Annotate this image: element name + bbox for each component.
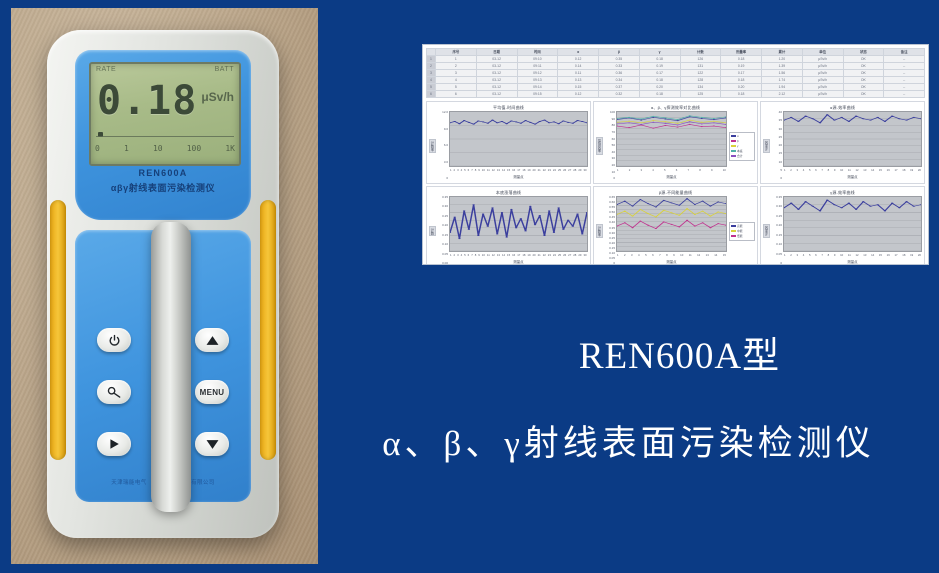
table-cell[interactable]: 2 (436, 63, 477, 70)
grip-right (260, 200, 276, 460)
chart-y-tick: 0.05 (442, 253, 448, 257)
chart-x-tick: 20 (533, 167, 536, 174)
data-table: 序号日期时间αβγ计数剂量率累计单位状态备注1103-1209:100.120.… (426, 48, 925, 98)
chart-y-tick: 0.10 (442, 243, 448, 247)
chart-y-tick: 0.25 (442, 215, 448, 219)
table-cell[interactable]: 125 (680, 91, 721, 98)
chart-x-tick: 7 (821, 167, 823, 174)
chart-x-tick: 11 (848, 167, 851, 174)
chart-x-tick: 16 (887, 167, 890, 174)
chart-x-axis-label: 测量点 (616, 174, 727, 181)
chart-legend-swatch (731, 145, 736, 147)
table-cell[interactable]: -- (884, 77, 925, 84)
chart-x-tick: 17 (894, 167, 897, 174)
chart-x-tick: 18 (902, 167, 905, 174)
scale-tick-1: 1 (124, 144, 129, 153)
chart-y-tick: 0.45 (609, 216, 615, 220)
table-cell[interactable]: 0.14 (558, 63, 599, 70)
chart-x-tick: 10 (482, 167, 485, 174)
table-cell[interactable]: 131 (680, 63, 721, 70)
table-cell[interactable]: 0.12 (558, 91, 599, 98)
chart-x-tick: 5 (664, 167, 666, 174)
chart-y-tick: 9.0 (444, 128, 448, 132)
chart-x-tick: 3 (796, 167, 798, 174)
table-row-index: 5 (427, 84, 436, 91)
chart-y-tick: 0.20 (776, 224, 782, 228)
play-icon (108, 438, 120, 450)
chart-x-tick: 5 (809, 167, 811, 174)
chart-y-tick: 0.35 (609, 227, 615, 231)
table-cell[interactable]: μSv/h (802, 77, 843, 84)
chart-x-tick: 8 (828, 167, 830, 174)
chart-legend-item: 合计 (731, 154, 753, 159)
chart-y-ticks: 12.09.06.03.00 (436, 111, 449, 181)
chart-x-tick: 7 (471, 252, 473, 259)
chart-panel[interactable]: γ源-效率曲线效率%0.350.300.250.200.150.100.0501… (760, 186, 925, 265)
table-cell[interactable]: 0.35 (599, 56, 640, 63)
power-icon (108, 334, 121, 347)
chart-legend-label: 低能 (737, 234, 743, 239)
table-cell[interactable]: 0.37 (599, 84, 640, 91)
chart-y-ticks: 4035302520151050 (770, 111, 783, 181)
chart-y-tick: 12.0 (442, 111, 448, 115)
chart-y-tick: 0.25 (776, 215, 782, 219)
chart-title: 平均值-时间曲线 (429, 104, 588, 111)
table-row[interactable]: 2203-1209:110.140.330.191310.191.39μSv/h… (427, 63, 925, 70)
table-cell[interactable]: -- (884, 91, 925, 98)
chart-legend-swatch (731, 140, 736, 142)
chart-x-tick: 6 (468, 167, 470, 174)
chart-x-axis-label: 测量点 (449, 174, 588, 181)
chart-x-tick: 8 (828, 252, 830, 259)
chart-body: 计数0.350.300.250.200.150.100.050.00123456… (429, 196, 588, 265)
chart-x-tick: 1 (617, 252, 619, 259)
table-cell[interactable]: 1.39 (762, 63, 803, 70)
table-cell[interactable]: 0.18 (639, 77, 680, 84)
chart-x-tick: 3 (631, 252, 633, 259)
chart-x-tick: 4 (461, 252, 463, 259)
chart-x-tick: 30 (583, 252, 586, 259)
chart-x-tick: 16 (512, 167, 515, 174)
table-cell[interactable]: 0.13 (558, 77, 599, 84)
chart-y-tick: 80 (612, 124, 615, 128)
table-cell[interactable]: 0.20 (639, 84, 680, 91)
table-cell[interactable]: 134 (680, 84, 721, 91)
product-photo: RATE BATT 0.18 μSv/h 0 1 10 100 1K R (11, 8, 318, 564)
chart-x-tick: 4 (803, 167, 805, 174)
chart-y-tick: 0.25 (609, 237, 615, 241)
chart-y-tick: 0.05 (609, 257, 615, 261)
chart-x-tick: 10 (680, 252, 683, 259)
chart-plot-area (783, 111, 922, 167)
chart-x-tick: 20 (918, 252, 921, 259)
chart-body: 计数率0.650.600.550.500.450.400.350.300.250… (596, 196, 755, 265)
chart-x-tick: 12 (855, 252, 858, 259)
chart-legend-swatch (731, 225, 736, 227)
chart-plot-wrapper: 1234567891011121314151617181920212223242… (449, 196, 588, 265)
chart-plot-area (616, 196, 727, 252)
table-cell[interactable]: 09:14 (517, 84, 558, 91)
chart-y-axis-label: 计数率 (596, 196, 603, 265)
table-cell[interactable]: 0.18 (639, 56, 680, 63)
chart-x-tick: 2 (790, 167, 792, 174)
chart-x-tick: 23 (548, 167, 551, 174)
chart-y-tick: 0.15 (776, 234, 782, 238)
chart-x-tick: 26 (563, 252, 566, 259)
table-cell[interactable]: 126 (680, 56, 721, 63)
table-cell[interactable]: 1.94 (762, 84, 803, 91)
table-cell[interactable]: -- (884, 56, 925, 63)
chart-x-tick: 21 (538, 167, 541, 174)
chart-plot-wrapper: 1234567891011121314151617181920测量点 (783, 196, 922, 265)
chart-x-tick: 4 (461, 167, 463, 174)
chart-x-tick: 28 (573, 252, 576, 259)
chart-x-tick: 13 (497, 167, 500, 174)
table-cell[interactable]: 03-12 (476, 77, 517, 84)
table-cell[interactable]: 09:11 (517, 63, 558, 70)
table-row-index: 4 (427, 77, 436, 84)
chart-y-axis-label: 效率% (763, 196, 770, 265)
scale-tick-4: 1K (225, 144, 235, 153)
chart-x-tick: 26 (563, 167, 566, 174)
table-cell[interactable]: 03-12 (476, 91, 517, 98)
chart-panel[interactable]: 平均值-时间曲线计数率12.09.06.03.00123456789101112… (426, 101, 591, 184)
table-cell[interactable]: 0.19 (639, 63, 680, 70)
table-cell[interactable]: 0.32 (599, 91, 640, 98)
table-cell[interactable]: μSv/h (802, 70, 843, 77)
table-cell[interactable]: -- (884, 84, 925, 91)
table-cell[interactable]: 2.12 (762, 91, 803, 98)
chart-y-tick: 40 (612, 151, 615, 155)
chart-x-tick: 19 (527, 252, 530, 259)
table-row-index: 6 (427, 91, 436, 98)
chart-y-tick: 0 (446, 177, 448, 181)
chart-y-axis-label: 计数率 (429, 111, 436, 181)
chart-x-axis-label: 测量点 (783, 259, 922, 265)
chart-x-axis-label: 测量点 (449, 259, 588, 265)
menu-button[interactable]: MENU (195, 380, 229, 404)
light-button[interactable] (97, 380, 131, 404)
chart-y-tick: 35 (779, 119, 782, 123)
table-cell[interactable]: 122 (680, 70, 721, 77)
chart-x-tick: 10 (482, 252, 485, 259)
chart-y-tick: 0.10 (776, 243, 782, 247)
chart-x-tick: 1 (450, 167, 452, 174)
table-cell[interactable]: 1 (436, 56, 477, 63)
chart-plot-wrapper: 1234567891011121314151617181920测量点 (783, 111, 922, 181)
radiation-detector-device: RATE BATT 0.18 μSv/h 0 1 10 100 1K R (47, 30, 279, 538)
lcd-status-right: BATT (215, 66, 234, 81)
chart-x-ticks: 1234567891011121314151617181920 (783, 252, 922, 259)
scale-tick-2: 10 (153, 144, 163, 153)
chart-panel[interactable]: 本底涨落曲线计数0.350.300.250.200.150.100.050.00… (426, 186, 591, 265)
chart-x-tick: 17 (517, 252, 520, 259)
chart-y-tick: 0.10 (609, 252, 615, 256)
chart-x-tick: 2 (454, 252, 456, 259)
table-cell[interactable]: 0.12 (558, 56, 599, 63)
table-cell[interactable]: OK (843, 84, 884, 91)
table-cell[interactable]: -- (884, 63, 925, 70)
chart-x-tick: 5 (645, 252, 647, 259)
table-column-header: 日期 (476, 49, 517, 56)
chart-y-tick: 0 (613, 262, 615, 265)
chart-x-tick: 8 (666, 252, 668, 259)
chart-legend-item: 低能 (731, 234, 753, 239)
chart-x-axis-label: 测量点 (616, 259, 727, 265)
table-cell[interactable]: OK (843, 77, 884, 84)
chart-y-tick: 70 (612, 131, 615, 135)
table-cell[interactable]: 4 (436, 77, 477, 84)
chart-y-ticks: 0.350.300.250.200.150.100.050 (770, 196, 783, 265)
chart-y-tick: 100 (610, 111, 615, 115)
chart-x-tick: 23 (548, 252, 551, 259)
table-cell[interactable]: 0.20 (721, 84, 762, 91)
chart-x-tick: 5 (809, 252, 811, 259)
chart-y-axis-label-text: 计数 (429, 226, 436, 237)
table-cell[interactable]: 09:10 (517, 56, 558, 63)
chart-y-tick: 25 (779, 136, 782, 140)
table-cell[interactable]: 3 (436, 70, 477, 77)
chart-x-tick: 18 (902, 252, 905, 259)
chart-y-axis-label-text: 探测效率 (596, 137, 603, 155)
table-column-header: 序号 (436, 49, 477, 56)
table-cell[interactable]: 0.11 (558, 70, 599, 77)
chart-x-tick: 6 (815, 167, 817, 174)
table-cell[interactable]: OK (843, 63, 884, 70)
table-cell[interactable]: 03-12 (476, 56, 517, 63)
table-cell[interactable]: 03-12 (476, 70, 517, 77)
lcd-display: RATE BATT 0.18 μSv/h 0 1 10 100 1K (89, 62, 241, 166)
chart-x-ticks: 1234567891011121314151617181920212223242… (449, 167, 588, 174)
chart-x-tick: 25 (558, 167, 561, 174)
table-cell[interactable]: 0.17 (639, 70, 680, 77)
chart-x-tick: 2 (624, 252, 626, 259)
chart-title: α、β、γ探测效率对比曲线 (596, 104, 755, 111)
magnifier-icon (107, 386, 122, 399)
table-row[interactable]: 1103-1209:100.120.350.181260.181.20μSv/h… (427, 56, 925, 63)
table-cell[interactable]: 0.36 (599, 70, 640, 77)
chart-y-tick: 0.40 (609, 221, 615, 225)
power-button[interactable] (97, 328, 131, 352)
table-cell[interactable]: 0.18 (721, 77, 762, 84)
table-column-header: 时间 (517, 49, 558, 56)
chart-x-tick: 30 (583, 167, 586, 174)
chart-y-tick: 0 (613, 177, 615, 181)
chart-plot-area (449, 196, 588, 252)
chart-y-tick: 0.60 (609, 201, 615, 205)
table-cell[interactable]: 1.74 (762, 77, 803, 84)
chart-x-tick: 16 (887, 252, 890, 259)
chart-y-tick: 40 (779, 111, 782, 115)
table-cell[interactable]: 09:15 (517, 91, 558, 98)
lcd-bargraph-axis (96, 136, 234, 137)
arrow-down-icon (206, 439, 219, 450)
chart-y-tick: 3.0 (444, 161, 448, 165)
lcd-reading-value: 0.18 (97, 81, 197, 121)
table-cell[interactable]: 0.17 (721, 70, 762, 77)
chart-y-tick: 0.05 (776, 253, 782, 257)
lcd-bargraph-scale: 0 1 10 100 1K (95, 144, 235, 153)
chart-y-tick: 0.55 (609, 206, 615, 210)
chart-legend: αβγ本底合计 (729, 132, 755, 161)
chart-x-tick: 9 (834, 252, 836, 259)
chart-y-tick: 0 (780, 177, 782, 181)
chart-legend-swatch (731, 230, 736, 232)
table-cell[interactable]: 1.20 (762, 56, 803, 63)
table-column-header: α (558, 49, 599, 56)
chart-y-ticks: 1009080706050403020100 (603, 111, 616, 181)
menu-button-label: MENU (200, 388, 225, 397)
table-cell[interactable]: OK (843, 70, 884, 77)
table-cell[interactable]: OK (843, 91, 884, 98)
chart-x-tick: 2 (454, 167, 456, 174)
table-cell[interactable]: 0.18 (721, 56, 762, 63)
chart-x-tick: 13 (863, 252, 866, 259)
chart-x-tick: 13 (497, 252, 500, 259)
chart-y-tick: 0.30 (776, 205, 782, 209)
table-cell[interactable]: 1.56 (762, 70, 803, 77)
chart-y-tick: 20 (779, 144, 782, 148)
page-title: REN600A型 (420, 325, 939, 379)
slide-background: RATE BATT 0.18 μSv/h 0 1 10 100 1K R (0, 0, 939, 573)
chart-x-tick: 10 (840, 167, 843, 174)
chart-y-tick: 60 (612, 138, 615, 142)
chart-x-tick: 16 (512, 252, 515, 259)
device-subtitle-label: αβγ射线表面污染检测仪 (75, 181, 251, 194)
chart-y-tick: 0.30 (609, 232, 615, 236)
chart-x-tick: 24 (553, 252, 556, 259)
chart-y-tick: 30 (779, 128, 782, 132)
table-row[interactable]: 4403-1209:130.130.340.181280.181.74μSv/h… (427, 77, 925, 84)
chart-x-tick: 11 (689, 252, 692, 259)
chart-x-tick: 15 (879, 252, 882, 259)
chart-x-tick: 17 (517, 167, 520, 174)
chart-y-tick: 6.0 (444, 144, 448, 148)
chart-x-tick: 5 (464, 167, 466, 174)
table-cell[interactable]: 128 (680, 77, 721, 84)
chart-x-tick: 13 (863, 167, 866, 174)
table-row[interactable]: 3303-1209:120.110.360.171220.171.56μSv/h… (427, 70, 925, 77)
table-column-header: β (599, 49, 640, 56)
chart-panel[interactable]: α、β、γ探测效率对比曲线探测效率10090807060504030201001… (593, 101, 758, 184)
chart-y-tick: 20 (612, 164, 615, 168)
table-cell[interactable]: OK (843, 56, 884, 63)
chart-x-tick: 4 (638, 252, 640, 259)
table-cell[interactable]: 03-12 (476, 63, 517, 70)
table-cell[interactable]: 09:12 (517, 70, 558, 77)
chart-x-tick: 27 (568, 252, 571, 259)
table-cell[interactable]: 0.33 (599, 63, 640, 70)
chart-y-ticks: 0.650.600.550.500.450.400.350.300.250.20… (603, 196, 616, 265)
device-head-panel: RATE BATT 0.18 μSv/h 0 1 10 100 1K R (75, 50, 251, 220)
chart-plot-area (783, 196, 922, 252)
chart-panel[interactable]: β源-不同能量曲线计数率0.650.600.550.500.450.400.35… (593, 186, 758, 265)
table-cell[interactable]: 09:13 (517, 77, 558, 84)
chart-plot-wrapper: 1234567891011121314151617181920212223242… (449, 111, 588, 181)
chart-legend-swatch (731, 150, 736, 152)
chart-x-tick: 14 (871, 167, 874, 174)
chart-x-tick: 19 (910, 252, 913, 259)
software-screenshot-panel: 序号日期时间αβγ计数剂量率累计单位状态备注1103-1209:100.120.… (422, 44, 929, 265)
chart-x-tick: 2 (629, 167, 631, 174)
chart-y-axis-label: 效率% (763, 111, 770, 181)
table-row[interactable]: 5503-1209:140.150.370.201340.201.94μSv/h… (427, 84, 925, 91)
chart-x-tick: 1 (784, 252, 786, 259)
chart-x-tick: 29 (578, 167, 581, 174)
chart-x-tick: 2 (790, 252, 792, 259)
chart-plot-wrapper: 123456789101112131415测量点 (616, 196, 727, 265)
chart-x-ticks: 123456789101112131415 (616, 252, 727, 259)
page-subtitle: α、β、γ射线表面污染检测仪 (318, 415, 939, 466)
chart-x-tick: 17 (894, 252, 897, 259)
chart-y-axis-label-text: 计数率 (429, 139, 436, 153)
chart-y-tick: 0.35 (776, 196, 782, 200)
table-cell[interactable]: 6 (436, 91, 477, 98)
chart-x-tick: 15 (507, 252, 510, 259)
table-cell[interactable]: 0.15 (558, 84, 599, 91)
chart-title: β源-不同能量曲线 (596, 189, 755, 196)
chart-y-tick: 0.20 (442, 224, 448, 228)
device-model-label: REN600A (75, 168, 251, 178)
up-button[interactable] (195, 328, 229, 352)
chart-title: 本底涨落曲线 (429, 189, 588, 196)
table-cell[interactable]: 03-12 (476, 84, 517, 91)
table-cell[interactable]: -- (884, 70, 925, 77)
chart-x-tick: 7 (688, 167, 690, 174)
table-cell[interactable]: 0.34 (599, 77, 640, 84)
chart-x-tick: 11 (848, 252, 851, 259)
table-row-index: 3 (427, 70, 436, 77)
chart-x-tick: 15 (879, 167, 882, 174)
chart-plot-wrapper: 12345678910测量点 (616, 111, 727, 181)
chart-x-tick: 20 (918, 167, 921, 174)
chart-y-tick: 0.65 (609, 196, 615, 200)
down-button[interactable] (195, 432, 229, 456)
table-column-header: 单位 (802, 49, 843, 56)
chart-x-tick: 10 (840, 252, 843, 259)
chart-x-tick: 11 (487, 167, 490, 174)
chart-x-tick: 3 (796, 252, 798, 259)
start-button[interactable] (97, 432, 131, 456)
table-cell[interactable]: μSv/h (802, 91, 843, 98)
table-row[interactable]: 6603-1209:150.120.320.181250.182.12μSv/h… (427, 91, 925, 98)
chart-x-tick: 7 (471, 167, 473, 174)
chart-x-ticks: 1234567891011121314151617181920212223242… (449, 252, 588, 259)
table-cell[interactable]: μSv/h (802, 63, 843, 70)
chart-x-tick: 6 (652, 252, 654, 259)
table-corner-cell (427, 49, 436, 56)
table-cell[interactable]: μSv/h (802, 56, 843, 63)
device-hand-strap (151, 222, 191, 512)
chart-y-axis-label-text: 效率% (763, 139, 770, 153)
table-cell[interactable]: 0.18 (639, 91, 680, 98)
chart-x-tick: 3 (457, 252, 459, 259)
chart-y-tick: 0 (780, 262, 782, 265)
footer-left-text: 天津瑞能电气 (111, 478, 146, 486)
chart-x-tick: 22 (543, 167, 546, 174)
chart-panel[interactable]: α源-效率曲线效率%403530252015105012345678910111… (760, 101, 925, 184)
table-cell[interactable]: 0.19 (721, 63, 762, 70)
table-cell[interactable]: μSv/h (802, 84, 843, 91)
chart-y-tick: 0.00 (442, 262, 448, 265)
table-cell[interactable]: 5 (436, 84, 477, 91)
chart-y-tick: 10 (612, 171, 615, 175)
chart-x-tick: 3 (457, 167, 459, 174)
chart-x-ticks: 1234567891011121314151617181920 (783, 167, 922, 174)
chart-x-tick: 12 (492, 167, 495, 174)
table-cell[interactable]: 0.18 (721, 91, 762, 98)
chart-x-tick: 6 (468, 252, 470, 259)
